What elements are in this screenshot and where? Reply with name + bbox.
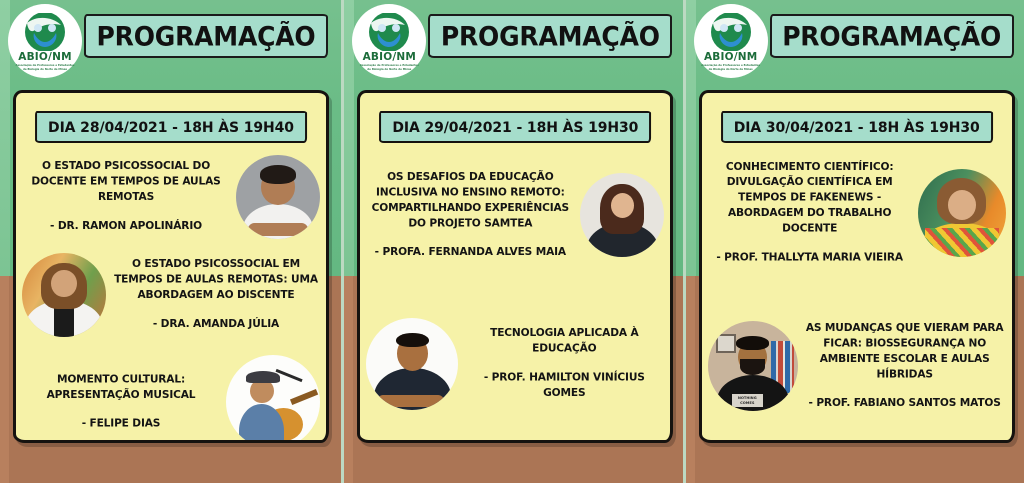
entry-title: AS MUDANÇAS QUE VIERAM PARA FICAR: BIOSS… [804, 321, 1006, 383]
entry-title: O ESTADO PSICOSSOCIAL DO DOCENTE EM TEMP… [22, 159, 230, 205]
poster-stage: ABIO/NM Associação de Professores e Estu… [0, 0, 1024, 483]
entry-speaker: - PROFA. FERNANDA ALVES MAIA [366, 245, 574, 260]
schedule-entry: TECNOLOGIA APLICADA À EDUCAÇÃO - PROF. H… [360, 318, 670, 410]
abio-nm-logo: ABIO/NM Associação de Professores e Estu… [352, 4, 426, 78]
entry-title: CONHECIMENTO CIENTÍFICO: DIVULGAÇÃO CIEN… [708, 159, 912, 236]
schedule-entry: AS MUDANÇAS QUE VIERAM PARA FICAR: BIOSS… [702, 321, 1012, 411]
date-label: DIA 30/04/2021 - 18H ÀS 19H30 [734, 120, 980, 137]
entry-title: TECNOLOGIA APLICADA À EDUCAÇÃO [464, 326, 664, 357]
photo-amanda-julia [22, 253, 106, 337]
entry-text: TECNOLOGIA APLICADA À EDUCAÇÃO - PROF. H… [464, 326, 664, 401]
schedule-entry: O ESTADO PSICOSSOCIAL EM TEMPOS DE AULAS… [16, 253, 326, 337]
entry-title: OS DESAFIOS DA EDUCAÇÃO INCLUSIVA NO ENS… [366, 170, 574, 232]
abio-nm-acronym: ABIO/NM [363, 52, 416, 63]
schedule-card-day1: DIA 28/04/2021 - 18H ÀS 19H40 O ESTADO P… [13, 90, 329, 443]
date-pill-day3: DIA 30/04/2021 - 18H ÀS 19H30 [721, 111, 993, 143]
photo-fabiano-santos-matos: NOTHING COMES [708, 321, 798, 411]
entry-title: MOMENTO CULTURAL: APRESENTAÇÃO MUSICAL [22, 372, 220, 403]
abio-nm-subtitle: Associação de Professores e Estudantes d… [15, 64, 75, 72]
entry-text: OS DESAFIOS DA EDUCAÇÃO INCLUSIVA NO ENS… [366, 170, 574, 261]
banner-title: PROGRAMAÇÃO [782, 21, 1001, 52]
schedule-card-day3: DIA 30/04/2021 - 18H ÀS 19H30 CONHECIMEN… [699, 90, 1015, 443]
banner-programacao: PROGRAMAÇÃO [428, 14, 672, 58]
entry-text: O ESTADO PSICOSSOCIAL DO DOCENTE EM TEMP… [22, 159, 230, 234]
entry-text: MOMENTO CULTURAL: APRESENTAÇÃO MUSICAL -… [22, 372, 220, 432]
entry-speaker: - PROF. FABIANO SANTOS MATOS [804, 396, 1006, 411]
schedule-entry: O ESTADO PSICOSSOCIAL DO DOCENTE EM TEMP… [16, 155, 326, 239]
programacao-panel-day2: ABIO/NM Associação de Professores e Estu… [341, 0, 682, 483]
abio-nm-logo-mark [707, 13, 755, 51]
schedule-entry: OS DESAFIOS DA EDUCAÇÃO INCLUSIVA NO ENS… [360, 171, 670, 259]
date-pill-day1: DIA 28/04/2021 - 18H ÀS 19H40 [35, 111, 307, 143]
entry-speaker: - PROF. HAMILTON VINÍCIUS GOMES [464, 371, 664, 402]
date-pill-day2: DIA 29/04/2021 - 18H ÀS 19H30 [379, 111, 651, 143]
schedule-entry: CONHECIMENTO CIENTÍFICO: DIVULGAÇÃO CIEN… [702, 161, 1012, 264]
tshirt-text: NOTHING COMES [732, 395, 763, 407]
photo-hamilton-vinicius-gomes [366, 318, 458, 410]
panel-background-brown-edge [0, 276, 9, 483]
banner-title: PROGRAMAÇÃO [441, 21, 660, 52]
panel-background-brown-edge [344, 276, 353, 483]
programacao-panel-day3: ABIO/NM Associação de Professores e Estu… [683, 0, 1024, 483]
schedule-card-day2: DIA 29/04/2021 - 18H ÀS 19H30 OS DESAFIO… [357, 90, 673, 443]
entry-speaker: - DR. RAMON APOLINÁRIO [22, 219, 230, 234]
banner-programacao: PROGRAMAÇÃO [770, 14, 1014, 58]
entry-title: O ESTADO PSICOSSOCIAL EM TEMPOS DE AULAS… [112, 257, 320, 303]
abio-nm-logo: ABIO/NM Associação de Professores e Estu… [694, 4, 768, 78]
abio-nm-logo-mark [21, 13, 69, 51]
programacao-panel-day1: ABIO/NM Associação de Professores e Estu… [0, 0, 341, 483]
photo-thallyta-maria-vieira [918, 169, 1006, 257]
photo-fernanda-alves-maia [580, 173, 664, 257]
panel-background-brown-edge [686, 276, 695, 483]
entry-text: O ESTADO PSICOSSOCIAL EM TEMPOS DE AULAS… [112, 257, 320, 332]
date-label: DIA 28/04/2021 - 18H ÀS 19H40 [48, 120, 294, 137]
abio-nm-subtitle: Associação de Professores e Estudantes d… [359, 64, 419, 72]
schedule-entry: MOMENTO CULTURAL: APRESENTAÇÃO MUSICAL -… [16, 355, 326, 443]
banner-title: PROGRAMAÇÃO [97, 21, 316, 52]
entry-text: AS MUDANÇAS QUE VIERAM PARA FICAR: BIOSS… [804, 321, 1006, 412]
photo-ramon-apolinario [236, 155, 320, 239]
date-label: DIA 29/04/2021 - 18H ÀS 19H30 [392, 120, 638, 137]
entry-speaker: - DRA. AMANDA JÚLIA [112, 317, 320, 332]
entry-speaker: - FELIPE DIAS [22, 416, 220, 431]
entry-text: CONHECIMENTO CIENTÍFICO: DIVULGAÇÃO CIEN… [708, 159, 912, 265]
abio-nm-subtitle: Associação de Professores e Estudantes d… [701, 64, 761, 72]
abio-nm-logo: ABIO/NM Associação de Professores e Estu… [8, 4, 82, 78]
abio-nm-acronym: ABIO/NM [704, 52, 757, 63]
abio-nm-acronym: ABIO/NM [18, 52, 71, 63]
abio-nm-logo-mark [365, 13, 413, 51]
banner-programacao: PROGRAMAÇÃO [84, 14, 328, 58]
entry-speaker: - PROF. THALLYTA MARIA VIEIRA [708, 250, 912, 265]
photo-felipe-dias [226, 355, 320, 443]
